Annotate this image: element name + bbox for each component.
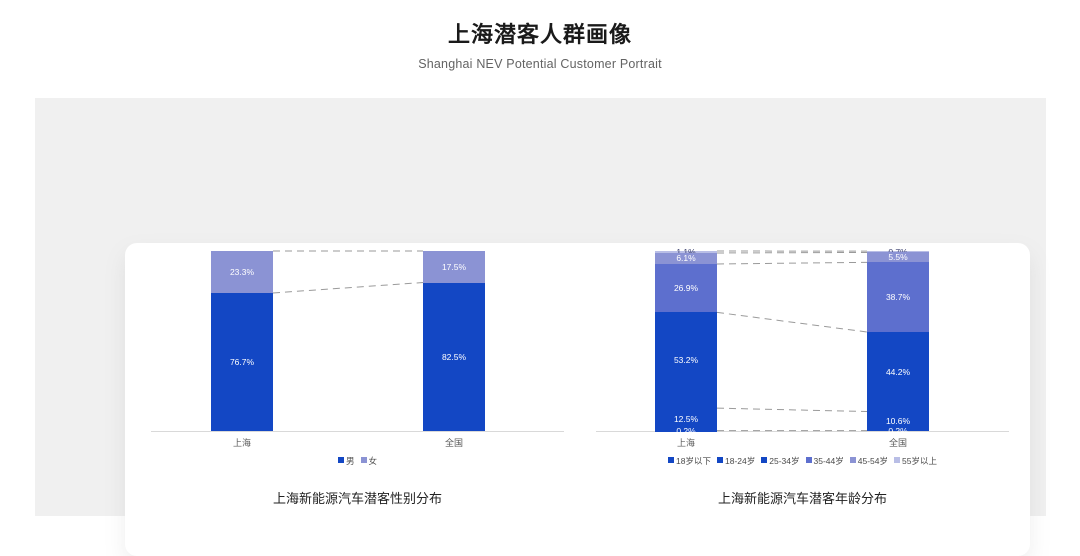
age-legend-label: 25-34岁 bbox=[769, 456, 799, 466]
age-segment-2[interactable]: 53.2% bbox=[655, 312, 717, 408]
age-legend-item[interactable]: 18-24岁 bbox=[717, 455, 755, 467]
age-legend-label: 55岁以上 bbox=[902, 456, 937, 466]
gender-legend-item[interactable]: 女 bbox=[361, 455, 378, 467]
legend-swatch-icon bbox=[894, 457, 900, 463]
gender-segment-0[interactable]: 82.5% bbox=[423, 283, 485, 432]
age-bar-shanghai[interactable]: 1.1%6.1%26.9%53.2%12.5%0.2% bbox=[655, 251, 717, 431]
age-category-label: 全国 bbox=[867, 436, 929, 449]
gender-segment-label: 17.5% bbox=[423, 262, 485, 272]
gender-legend: 男女 bbox=[135, 455, 580, 467]
age-segment-4[interactable]: 5.5% bbox=[867, 252, 929, 262]
age-legend-item[interactable]: 18岁以下 bbox=[668, 455, 711, 467]
age-segment-label: 44.2% bbox=[867, 367, 929, 377]
age-legend-label: 18-24岁 bbox=[725, 456, 755, 466]
page-header: 上海潜客人群画像 Shanghai NEV Potential Customer… bbox=[0, 0, 1080, 71]
gender-category-labels: 上海全国 bbox=[135, 433, 580, 451]
age-legend-item[interactable]: 45-54岁 bbox=[850, 455, 888, 467]
page-subtitle: Shanghai NEV Potential Customer Portrait bbox=[0, 57, 1080, 71]
age-legend-item[interactable]: 25-34岁 bbox=[761, 455, 799, 467]
gender-legend-label: 男 bbox=[346, 456, 355, 466]
age-segment-2[interactable]: 44.2% bbox=[867, 332, 929, 412]
legend-swatch-icon bbox=[850, 457, 856, 463]
gender-chart-caption: 上海新能源汽车潜客性别分布 bbox=[135, 488, 580, 507]
content-panel: 23.3%76.7% 17.5%82.5% 上海全国 男女 上海新能源汽车潜客性… bbox=[35, 98, 1046, 516]
page-title: 上海潜客人群画像 bbox=[0, 22, 1080, 48]
age-segment-4[interactable]: 6.1% bbox=[655, 253, 717, 264]
age-segment-3[interactable]: 38.7% bbox=[867, 262, 929, 332]
age-category-label: 上海 bbox=[655, 436, 717, 449]
age-legend-label: 18岁以下 bbox=[676, 456, 711, 466]
gender-category-label: 全国 bbox=[423, 436, 485, 449]
age-segment-label: 53.2% bbox=[655, 355, 717, 365]
age-legend-item[interactable]: 35-44岁 bbox=[806, 455, 844, 467]
legend-swatch-icon bbox=[338, 457, 344, 463]
age-segment-label: 6.1% bbox=[655, 253, 717, 263]
age-connector-line bbox=[717, 252, 867, 253]
age-connector-line bbox=[717, 262, 867, 264]
age-legend: 18岁以下18-24岁25-34岁35-44岁45-54岁55岁以上 bbox=[580, 455, 1025, 467]
age-segment-label: 26.9% bbox=[655, 283, 717, 293]
age-bar-national[interactable]: 0.7%5.5%38.7%44.2%10.6%0.2% bbox=[867, 251, 929, 431]
age-connector-lines bbox=[580, 243, 1025, 439]
gender-axis-line bbox=[151, 431, 564, 432]
age-connector-line bbox=[717, 312, 867, 332]
chart-age-distribution: 1.1%6.1%26.9%53.2%12.5%0.2% 0.7%5.5%38.7… bbox=[580, 243, 1025, 556]
legend-swatch-icon bbox=[717, 457, 723, 463]
charts-card: 23.3%76.7% 17.5%82.5% 上海全国 男女 上海新能源汽车潜客性… bbox=[125, 243, 1030, 556]
age-category-labels: 上海全国 bbox=[580, 433, 1025, 451]
gender-segment-label: 76.7% bbox=[211, 357, 273, 367]
legend-swatch-icon bbox=[668, 457, 674, 463]
gender-plot-area: 23.3%76.7% 17.5%82.5% bbox=[135, 243, 580, 439]
gender-category-label: 上海 bbox=[211, 436, 273, 449]
gender-connector-lines bbox=[135, 243, 580, 439]
gender-legend-label: 女 bbox=[369, 456, 378, 466]
chart-gender-distribution: 23.3%76.7% 17.5%82.5% 上海全国 男女 上海新能源汽车潜客性… bbox=[135, 243, 580, 556]
age-segment-label: 5.5% bbox=[867, 252, 929, 262]
age-legend-label: 35-44岁 bbox=[814, 456, 844, 466]
gender-bar-national[interactable]: 17.5%82.5% bbox=[423, 251, 485, 431]
legend-swatch-icon bbox=[361, 457, 367, 463]
gender-legend-item[interactable]: 男 bbox=[338, 455, 355, 467]
age-chart-caption: 上海新能源汽车潜客年龄分布 bbox=[580, 488, 1025, 507]
gender-bar-shanghai[interactable]: 23.3%76.7% bbox=[211, 251, 273, 431]
age-segment-label: 38.7% bbox=[867, 292, 929, 302]
gender-segment-1[interactable]: 17.5% bbox=[423, 251, 485, 283]
age-segment-3[interactable]: 26.9% bbox=[655, 264, 717, 312]
gender-segment-label: 23.3% bbox=[211, 267, 273, 277]
age-plot-area: 1.1%6.1%26.9%53.2%12.5%0.2% 0.7%5.5%38.7… bbox=[580, 243, 1025, 439]
gender-segment-0[interactable]: 76.7% bbox=[211, 293, 273, 431]
gender-connector-line bbox=[273, 283, 423, 293]
age-segment-label: 12.5% bbox=[655, 414, 717, 424]
age-connector-line bbox=[717, 408, 867, 411]
legend-swatch-icon bbox=[806, 457, 812, 463]
gender-segment-label: 82.5% bbox=[423, 352, 485, 362]
age-legend-item[interactable]: 55岁以上 bbox=[894, 455, 937, 467]
gender-segment-1[interactable]: 23.3% bbox=[211, 251, 273, 293]
legend-swatch-icon bbox=[761, 457, 767, 463]
age-legend-label: 45-54岁 bbox=[858, 456, 888, 466]
age-segment-label: 10.6% bbox=[867, 416, 929, 426]
